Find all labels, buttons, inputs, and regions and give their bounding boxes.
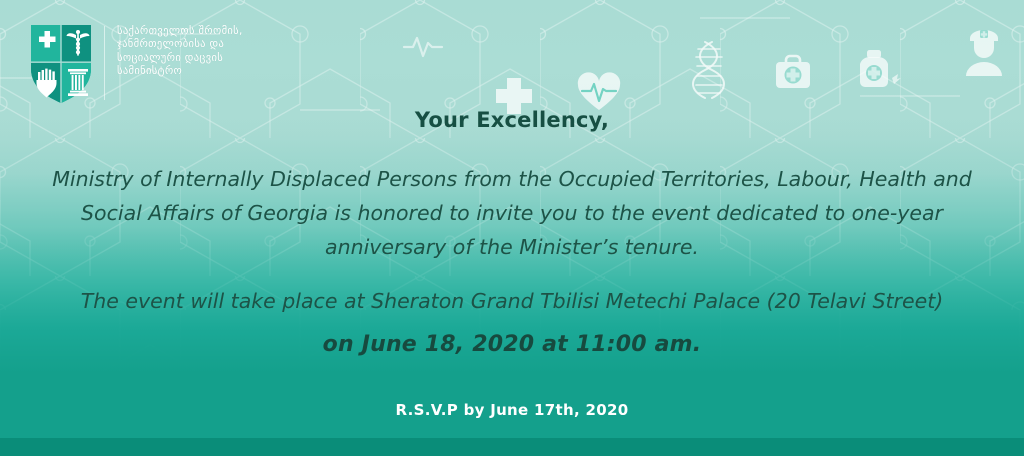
event-datetime: on June 18, 2020 at 11:00 am. <box>24 332 1000 357</box>
invitation-body: Your Excellency, Ministry of Internally … <box>0 108 1024 357</box>
invitation-card: საქართველოს შრომის, ჯანმრთელობისა და სოც… <box>0 0 1024 456</box>
salutation: Your Excellency, <box>24 108 1000 132</box>
logo-divider <box>104 26 105 100</box>
bottom-accent-band <box>0 438 1024 456</box>
doctor-avatar-icon <box>966 30 1002 76</box>
first-aid-kit-icon <box>776 56 810 88</box>
ministry-logo: საქართველოს შრომის, ჯანმრთელობისა და სოც… <box>28 22 243 106</box>
heart-pulse-icon <box>578 72 620 110</box>
rsvp-note: R.S.V.P by June 17th, 2020 <box>0 401 1024 419</box>
pill-bottle-icon <box>860 50 901 87</box>
invitation-intro-paragraph: Ministry of Internally Displaced Persons… <box>47 162 977 264</box>
venue-paragraph: The event will take place at Sheraton Gr… <box>47 284 977 318</box>
heartbeat-line-icon <box>404 38 442 56</box>
dna-helix-icon <box>693 42 724 98</box>
ministry-name-georgian: საქართველოს შრომის, ჯანმრთელობისა და სოც… <box>117 25 243 79</box>
ministry-shield-emblem <box>28 22 94 106</box>
